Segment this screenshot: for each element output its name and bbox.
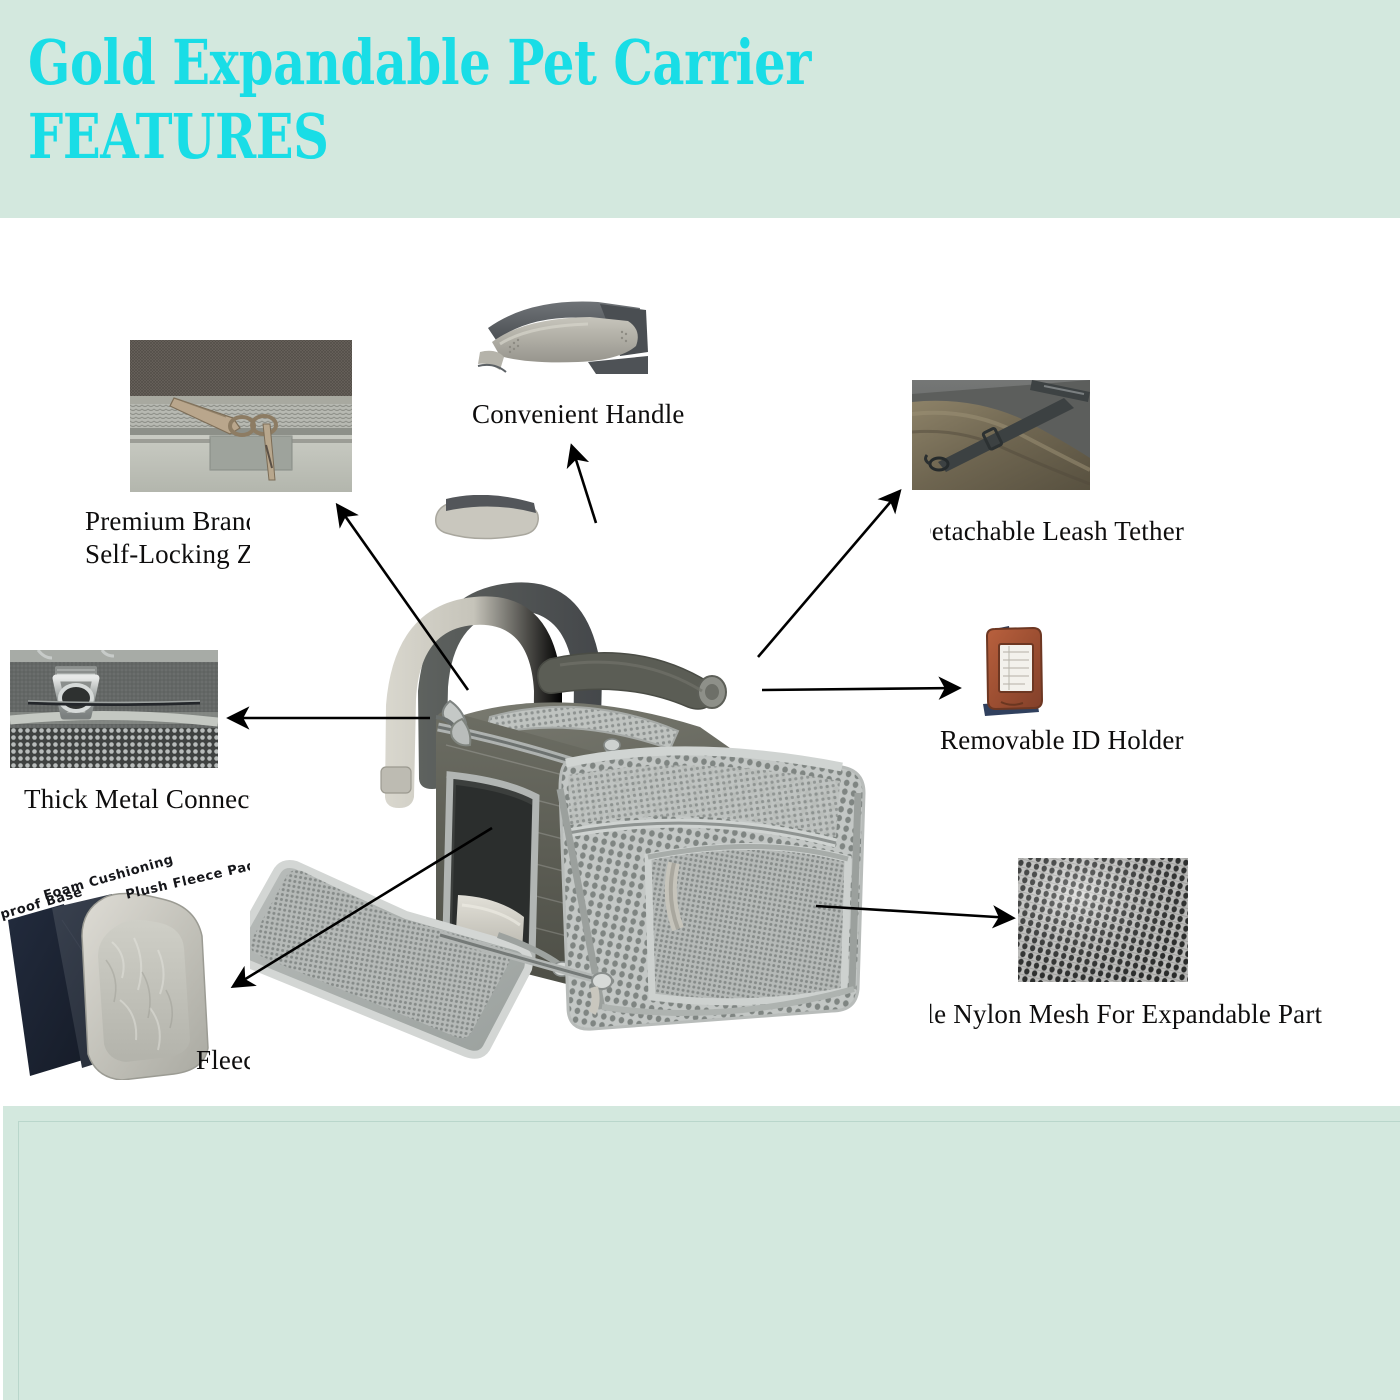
infographic-page: Gold Expandable Pet Carrier FEATURES (0, 0, 1400, 1400)
handle-photo (470, 290, 670, 390)
page-title: Gold Expandable Pet Carrier FEATURES (28, 26, 908, 174)
caption-removable-id-holder: Removable ID Holder (940, 724, 1184, 757)
caption-convenient-handle: Convenient Handle (472, 398, 685, 431)
metal-connector-photo (10, 650, 218, 768)
footer-inner-panel (18, 1121, 1400, 1400)
header-band: Gold Expandable Pet Carrier FEATURES (0, 0, 1400, 218)
id-holder-photo (975, 622, 1053, 722)
caption-detachable-leash-tether: Detachable Leash Tether (912, 515, 1184, 548)
product-carrier-image (250, 495, 930, 1075)
zipper-photo (130, 340, 352, 492)
leash-tether-photo (912, 380, 1090, 490)
nylon-mesh-photo (1018, 858, 1188, 982)
